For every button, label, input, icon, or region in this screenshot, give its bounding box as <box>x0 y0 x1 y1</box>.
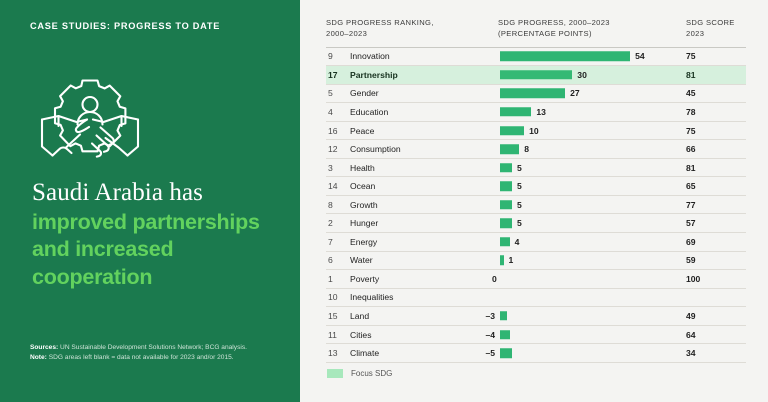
row-sdg-name: Innovation <box>350 51 500 61</box>
row-sdg-name: Education <box>350 107 500 117</box>
table-row[interactable]: 15Land–349 <box>326 307 746 326</box>
table-row[interactable]: 8Growth577 <box>326 196 746 215</box>
table-row[interactable]: 11Cities–464 <box>326 326 746 345</box>
row-rank: 10 <box>326 292 350 302</box>
table-row[interactable]: 13Climate–534 <box>326 344 746 363</box>
row-sdg-name: Poverty <box>350 274 500 284</box>
row-sdg-name: Ocean <box>350 181 500 191</box>
row-sdg-name: Consumption <box>350 144 500 154</box>
progress-bar <box>500 256 504 266</box>
progress-bar-value: 27 <box>570 88 580 98</box>
table-row[interactable]: 4Education1378 <box>326 103 746 122</box>
table-row[interactable]: 17Partnership3081 <box>326 66 746 85</box>
row-bar-cell: 5 <box>500 158 678 177</box>
row-rank: 12 <box>326 144 350 154</box>
legend: Focus SDG <box>326 369 746 378</box>
progress-bar-value: 4 <box>515 237 520 247</box>
table-row[interactable]: 14Ocean565 <box>326 177 746 196</box>
table-body: 9Innovation547517Partnership30815Gender2… <box>326 48 746 363</box>
row-rank: 7 <box>326 237 350 247</box>
row-bar-cell: –5 <box>500 344 678 363</box>
row-rank: 15 <box>326 311 350 321</box>
progress-bar-value: –4 <box>477 330 495 340</box>
row-bar-cell: 5 <box>500 214 678 233</box>
eyebrow-label: CASE STUDIES: PROGRESS TO DATE <box>30 21 220 32</box>
progress-bar <box>500 144 519 154</box>
page-title: Saudi Arabia has improved partnerships a… <box>32 178 282 292</box>
table-row[interactable]: 3Health581 <box>326 159 746 178</box>
row-bar-cell: 54 <box>500 47 678 66</box>
row-rank: 16 <box>326 126 350 136</box>
row-bar-cell: 10 <box>500 121 678 140</box>
row-sdg-name: Health <box>350 163 500 173</box>
handshake-gear-icon <box>36 72 144 167</box>
progress-bar <box>500 219 512 229</box>
footnotes: Sources: UN Sustainable Development Solu… <box>30 343 285 364</box>
row-sdg-score: 81 <box>678 70 746 80</box>
progress-bar-value: 5 <box>517 163 522 173</box>
headline-line-2: improved partnerships <box>32 209 282 237</box>
progress-bar-value: 5 <box>517 181 522 191</box>
row-bar-cell: 5 <box>500 177 678 196</box>
legend-label-focus-sdg: Focus SDG <box>351 369 392 378</box>
row-sdg-name: Growth <box>350 200 500 210</box>
progress-bar-value: 1 <box>509 255 514 265</box>
row-bar-cell: 5 <box>500 195 678 214</box>
row-rank: 8 <box>326 200 350 210</box>
row-bar-cell: –4 <box>500 325 678 344</box>
progress-bar-value: 10 <box>529 126 539 136</box>
row-sdg-score: 66 <box>678 144 746 154</box>
progress-bar <box>500 163 512 173</box>
row-bar-cell: 8 <box>500 140 678 159</box>
row-sdg-score: 75 <box>678 51 746 61</box>
progress-bar <box>500 330 510 340</box>
table-row[interactable]: 2Hunger557 <box>326 214 746 233</box>
row-rank: 2 <box>326 218 350 228</box>
progress-bar <box>500 200 512 210</box>
note-line: Note: SDG areas left blank = data not av… <box>30 353 285 364</box>
note-text: SDG areas left blank = data not availabl… <box>47 354 234 361</box>
sources-label: Sources: <box>30 344 58 351</box>
row-sdg-score: 69 <box>678 237 746 247</box>
progress-bar <box>500 52 630 62</box>
row-sdg-score: 100 <box>678 274 746 284</box>
progress-bar-value: 0 <box>492 274 497 284</box>
row-sdg-score: 65 <box>678 181 746 191</box>
legend-swatch-focus-sdg <box>327 369 343 378</box>
table-row[interactable]: 9Innovation5475 <box>326 48 746 67</box>
row-sdg-score: 75 <box>678 126 746 136</box>
sources-text: UN Sustainable Development Solutions Net… <box>58 344 247 351</box>
note-label: Note: <box>30 354 47 361</box>
row-bar-cell: 13 <box>500 103 678 122</box>
row-sdg-score: 49 <box>678 311 746 321</box>
progress-bar-value: 13 <box>536 107 546 117</box>
table-row[interactable]: 6Water159 <box>326 252 746 271</box>
row-sdg-score: 78 <box>678 107 746 117</box>
row-rank: 14 <box>326 181 350 191</box>
row-bar-cell: 30 <box>500 66 678 85</box>
column-header-progress: SDG PROGRESS, 2000–2023 (PERCENTAGE POIN… <box>498 18 686 40</box>
headline-line-3: and increased <box>32 236 282 264</box>
row-rank: 3 <box>326 163 350 173</box>
row-bar-cell: 0 <box>500 270 678 289</box>
progress-bar-value: 30 <box>577 70 587 80</box>
row-sdg-score: 34 <box>678 348 746 358</box>
row-rank: 5 <box>326 88 350 98</box>
row-rank: 4 <box>326 107 350 117</box>
headline-line-4: cooperation <box>32 264 282 292</box>
row-sdg-score: 64 <box>678 330 746 340</box>
progress-bar-value: 8 <box>524 144 529 154</box>
progress-bar <box>500 181 512 191</box>
row-sdg-name: Energy <box>350 237 500 247</box>
left-hero-panel: CASE STUDIES: PROGRESS TO DATE <box>0 0 300 402</box>
row-rank: 11 <box>326 330 350 340</box>
row-sdg-score: 81 <box>678 163 746 173</box>
progress-bar-value: 54 <box>635 51 645 61</box>
column-header-score: SDG SCORE 2023 <box>686 18 746 40</box>
row-bar-cell: –3 <box>500 307 678 326</box>
headline-line-1: Saudi Arabia has <box>32 178 282 209</box>
progress-bar-value: –3 <box>477 311 495 321</box>
column-header-ranking: SDG PROGRESS RANKING, 2000–2023 <box>326 18 498 40</box>
progress-bar-value: 5 <box>517 200 522 210</box>
progress-bar <box>500 126 524 136</box>
table-row[interactable]: 12Consumption866 <box>326 140 746 159</box>
row-sdg-score: 45 <box>678 88 746 98</box>
row-rank: 13 <box>326 348 350 358</box>
table-row[interactable]: 10Inequalities <box>326 289 746 308</box>
table-row[interactable]: 7Energy469 <box>326 233 746 252</box>
sources-line: Sources: UN Sustainable Development Solu… <box>30 343 285 354</box>
row-rank: 9 <box>326 51 350 61</box>
progress-bar <box>500 89 565 99</box>
row-bar-cell <box>500 288 678 307</box>
row-bar-cell: 4 <box>500 233 678 252</box>
progress-bar <box>500 311 507 321</box>
table-row[interactable]: 5Gender2745 <box>326 85 746 104</box>
row-rank: 17 <box>326 70 350 80</box>
table-header-row: SDG PROGRESS RANKING, 2000–2023 SDG PROG… <box>326 18 746 47</box>
table-row[interactable]: 16Peace1075 <box>326 122 746 141</box>
row-bar-cell: 27 <box>500 84 678 103</box>
row-bar-cell: 1 <box>500 251 678 270</box>
progress-bar <box>500 107 531 117</box>
row-sdg-name: Hunger <box>350 218 500 228</box>
progress-bar-value: –5 <box>477 348 495 358</box>
progress-bar <box>500 348 512 358</box>
row-sdg-name: Gender <box>350 88 500 98</box>
row-rank: 6 <box>326 255 350 265</box>
row-rank: 1 <box>326 274 350 284</box>
progress-bar <box>500 70 572 80</box>
progress-bar <box>500 237 510 247</box>
slide-root: CASE STUDIES: PROGRESS TO DATE <box>0 0 768 402</box>
row-sdg-name: Inequalities <box>350 292 500 302</box>
row-sdg-score: 77 <box>678 200 746 210</box>
row-sdg-score: 59 <box>678 255 746 265</box>
sdg-table-panel: SDG PROGRESS RANKING, 2000–2023 SDG PROG… <box>300 0 768 402</box>
progress-bar-value: 5 <box>517 218 522 228</box>
table-row[interactable]: 1Poverty0100 <box>326 270 746 289</box>
row-sdg-name: Water <box>350 255 500 265</box>
row-sdg-score: 57 <box>678 218 746 228</box>
row-sdg-name: Partnership <box>350 70 500 80</box>
row-sdg-name: Peace <box>350 126 500 136</box>
